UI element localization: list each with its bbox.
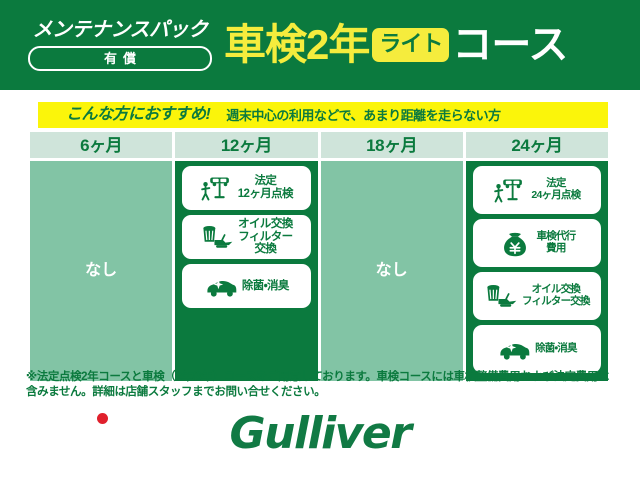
column-body: 法定 12ヶ月点検オイル交換 フィルター 交換除菌・消臭 — [175, 161, 317, 381]
schedule-column: 24ヶ月法定 24ヶ月点検車検代行 費用オイル交換 フィルター交換除菌・消臭 — [466, 132, 608, 381]
column-header: 24ヶ月 — [466, 132, 608, 158]
column-header-label: 12ヶ月 — [221, 137, 272, 154]
none-label: なし — [376, 263, 408, 279]
service-item-card: 除菌・消臭 — [182, 264, 310, 308]
paid-badge: 有償 — [28, 46, 212, 71]
recommend-banner: こんな方におすすめ! 週末中心の利用などで、あまり距離を走らない方 — [38, 102, 608, 128]
car-sparkle-icon — [204, 272, 238, 301]
service-item-label: 車検代行 費用 — [536, 231, 575, 255]
service-item-card: 法定 24ヶ月点検 — [473, 166, 601, 214]
service-item-card: 除菌・消臭 — [473, 325, 601, 373]
column-body: なし — [321, 161, 463, 381]
column-body: なし — [30, 161, 172, 381]
schedule-table: 6ヶ月なし12ヶ月法定 12ヶ月点検オイル交換 フィルター 交換除菌・消臭18ヶ… — [30, 132, 608, 381]
course-suffix-title: コース — [452, 25, 567, 65]
service-item-label: 法定 12ヶ月点検 — [238, 175, 293, 201]
service-item-label: オイル交換 フィルター 交換 — [238, 218, 293, 257]
course-main-title: 車検2年 — [224, 24, 369, 66]
car-lift-inspection-icon — [493, 176, 527, 205]
column-header-label: 24ヶ月 — [511, 137, 562, 154]
header-left-group: メンテナンスパック 有償 — [0, 20, 222, 71]
oil-can-filter-icon — [200, 223, 234, 252]
course-light-chip: ライト — [372, 28, 449, 62]
service-item-card: 法定 12ヶ月点検 — [182, 166, 310, 210]
column-header-label: 6ヶ月 — [80, 137, 122, 154]
brand-logo: Gulliver — [0, 412, 640, 456]
money-bag-yen-icon — [498, 229, 532, 258]
column-body: 法定 24ヶ月点検車検代行 費用オイル交換 フィルター交換除菌・消臭 — [466, 161, 608, 381]
schedule-column: 6ヶ月なし — [30, 132, 172, 381]
car-sparkle-icon — [497, 335, 531, 364]
schedule-column: 12ヶ月法定 12ヶ月点検オイル交換 フィルター 交換除菌・消臭 — [175, 132, 317, 381]
car-lift-inspection-icon — [200, 174, 234, 203]
header-band: メンテナンスパック 有償 車検2年 ライト コース — [0, 0, 640, 90]
none-label: なし — [85, 263, 117, 279]
service-item-card: オイル交換 フィルター 交換 — [182, 215, 310, 259]
paid-badge-label: 有償 — [98, 52, 142, 65]
brand-logo-text: Gulliver — [230, 412, 411, 456]
oil-can-filter-icon — [484, 282, 518, 311]
service-item-label: オイル交換 フィルター交換 — [522, 284, 590, 308]
brand-logo-dot-icon — [97, 413, 108, 424]
service-item-label: 除菌・消臭 — [535, 343, 577, 355]
column-header-label: 18ヶ月 — [366, 137, 417, 154]
service-item-card: 車検代行 費用 — [473, 219, 601, 267]
service-item-label: 除菌・消臭 — [242, 280, 289, 293]
schedule-column: 18ヶ月なし — [321, 132, 463, 381]
service-item-card: オイル交換 フィルター交換 — [473, 272, 601, 320]
column-header: 6ヶ月 — [30, 132, 172, 158]
recommend-headline: こんな方におすすめ! — [66, 107, 210, 123]
footnote-text: ※法定点検2年コースと車検（2年/3年）コースをご用意しております。車検コースに… — [26, 370, 618, 400]
column-header: 18ヶ月 — [321, 132, 463, 158]
pack-title: メンテナンスパック — [32, 20, 207, 40]
recommend-description: 週末中心の利用などで、あまり距離を走らない方 — [226, 109, 500, 122]
maintenance-pack-poster: メンテナンスパック 有償 車検2年 ライト コース こんな方におすすめ! 週末中… — [0, 0, 640, 480]
column-header: 12ヶ月 — [175, 132, 317, 158]
header-right-group: 車検2年 ライト コース — [222, 24, 640, 66]
service-item-label: 法定 24ヶ月点検 — [531, 178, 580, 202]
